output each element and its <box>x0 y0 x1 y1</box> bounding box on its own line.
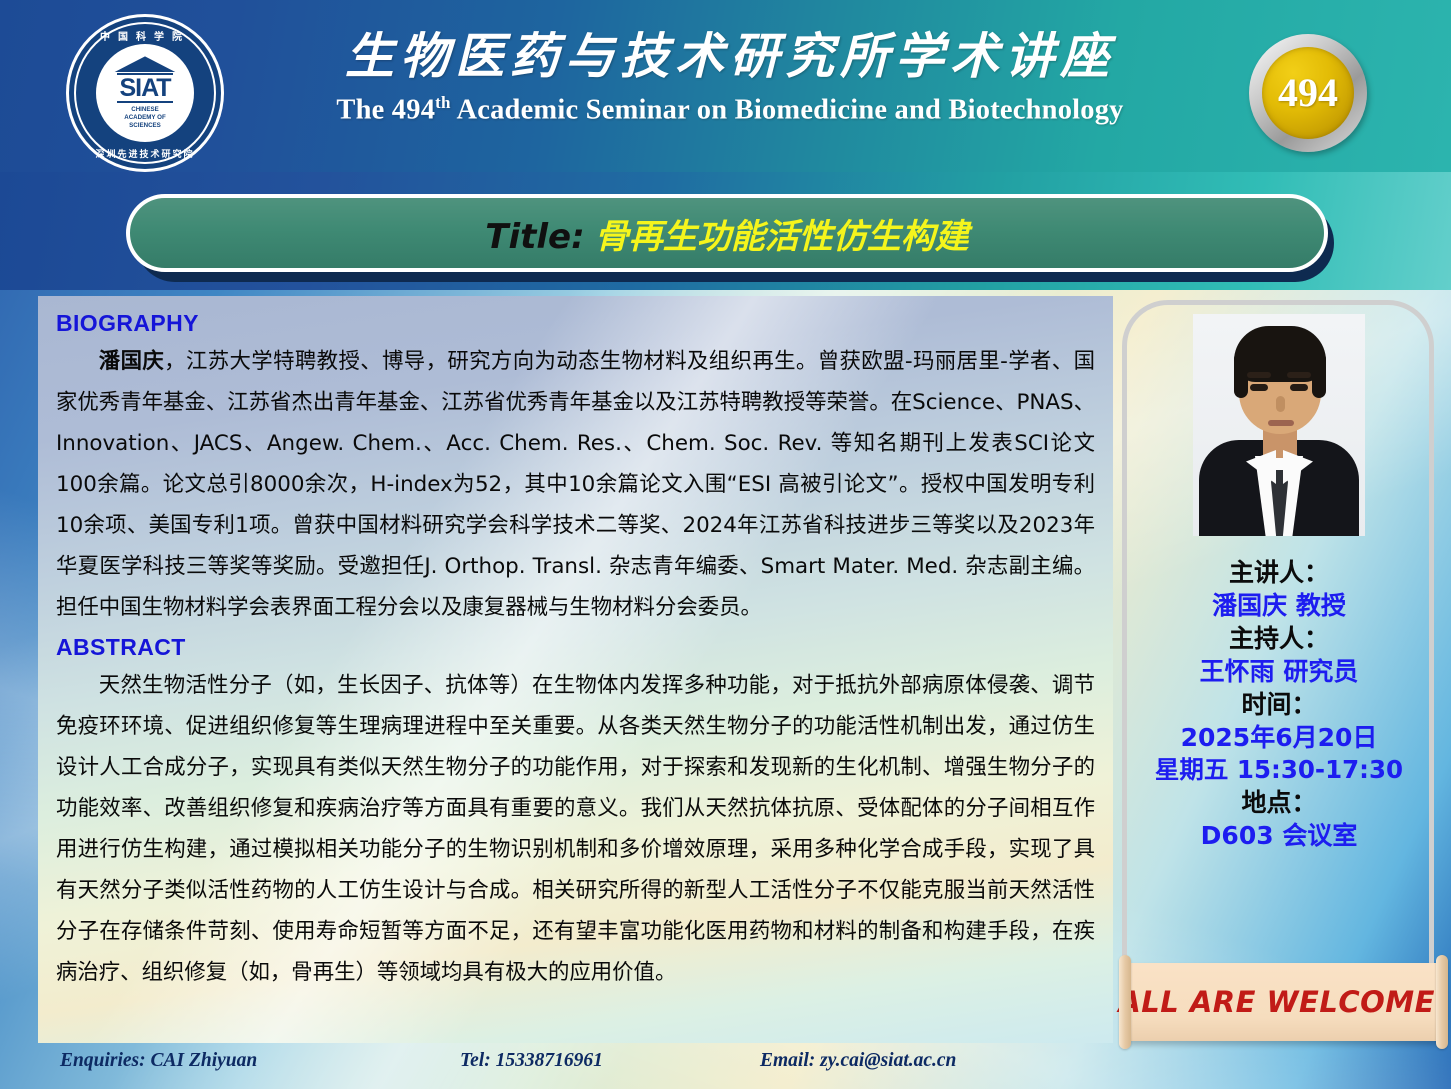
speaker-photo <box>1193 314 1365 536</box>
welcome-text: ALL ARE WELCOME! <box>1118 985 1448 1019</box>
footer-tel: Tel: 15338716961 <box>460 1050 760 1072</box>
seminar-title-en-ordinal: th <box>435 93 451 112</box>
logo-org-name: CHINESE ACADEMY OF SCIENCES <box>124 106 165 129</box>
speaker-value: 潘国庆 教授 <box>1134 589 1424 622</box>
photo-mouth <box>1268 420 1294 426</box>
welcome-scroll-rod-left <box>1119 955 1131 1049</box>
speaker-label: 主讲人： <box>1134 556 1424 589</box>
biography-heading: BIOGRAPHY <box>56 310 1095 337</box>
logo-org-line2: ACADEMY OF <box>124 114 165 122</box>
seminar-title-cn: 生物医药与技术研究所学术讲座 <box>240 26 1220 87</box>
photo-eyebrow-right <box>1287 372 1311 378</box>
seminar-title-en-prefix: The 494 <box>336 95 435 126</box>
talk-title-value: 骨再生功能活性仿生构建 <box>595 217 969 257</box>
badge-gold-disc: 494 <box>1262 47 1354 139</box>
photo-hair-right <box>1312 352 1326 398</box>
time-label: 时间： <box>1134 688 1424 721</box>
logo-org-line3: SCIENCES <box>124 122 165 130</box>
biography-speaker-name: 潘国庆 <box>99 349 164 374</box>
logo-abbr: SIAT <box>117 73 172 103</box>
seminar-poster: 中国科学院 深圳先进技术研究院 SIAT CHINESE ACADEMY OF … <box>0 0 1451 1089</box>
talk-title-text: Title:骨再生功能活性仿生构建 <box>485 209 968 258</box>
biography-body: ，江苏大学特聘教授、博导，研究方向为动态生物材料及组织再生。曾获欧盟-玛丽居里-… <box>56 349 1095 620</box>
welcome-scroll-rod-right <box>1436 955 1448 1049</box>
logo-arc-bottom-text: 深圳先进技术研究院 <box>66 147 224 160</box>
event-info-block: 主讲人： 潘国庆 教授 主持人： 王怀雨 研究员 时间： 2025年6月20日 … <box>1134 556 1424 852</box>
photo-hair-left <box>1234 352 1248 398</box>
seminar-title-en: The 494th Academic Seminar on Biomedicin… <box>240 93 1220 127</box>
siat-logo: 中国科学院 深圳先进技术研究院 SIAT CHINESE ACADEMY OF … <box>66 14 224 172</box>
photo-eye-right <box>1290 384 1308 391</box>
host-label: 主持人： <box>1134 622 1424 655</box>
venue-value: D603 会议室 <box>1134 819 1424 852</box>
footer-enquiries: Enquiries: CAI Zhiyuan <box>60 1050 460 1072</box>
header-title-group: 生物医药与技术研究所学术讲座 The 494th Academic Semina… <box>240 26 1220 127</box>
logo-org-line1: CHINESE <box>124 106 165 114</box>
time-value-weekday-hours: 星期五 15:30-17:30 <box>1134 754 1424 786</box>
logo-pediment-icon <box>114 56 176 72</box>
footer-email: Email: zy.cai@siat.ac.cn <box>760 1050 1115 1072</box>
content-panel: BIOGRAPHY 潘国庆，江苏大学特聘教授、博导，研究方向为动态生物材料及组织… <box>38 296 1113 1043</box>
abstract-heading: ABSTRACT <box>56 634 1095 661</box>
biography-text: 潘国庆，江苏大学特聘教授、博导，研究方向为动态生物材料及组织再生。曾获欧盟-玛丽… <box>56 341 1095 628</box>
logo-arc-top-text: 中国科学院 <box>66 28 224 43</box>
photo-eyebrow-left <box>1247 372 1271 378</box>
time-value-date: 2025年6月20日 <box>1134 721 1424 754</box>
badge-number-text: 494 <box>1278 73 1338 113</box>
photo-eye-left <box>1250 384 1268 391</box>
seminar-number-badge: 494 <box>1249 34 1367 152</box>
welcome-banner: ALL ARE WELCOME! <box>1125 963 1442 1041</box>
venue-label: 地点： <box>1134 786 1424 819</box>
seminar-title-en-suffix: Academic Seminar on Biomedicine and Biot… <box>451 95 1124 126</box>
talk-title-label: Title: <box>485 217 584 257</box>
host-value: 王怀雨 研究员 <box>1134 655 1424 688</box>
talk-title-bar: Title:骨再生功能活性仿生构建 <box>126 194 1328 272</box>
footer-contact: Enquiries: CAI Zhiyuan Tel: 15338716961 … <box>60 1050 1115 1072</box>
abstract-text: 天然生物活性分子（如，生长因子、抗体等）在生物体内发挥多种功能，对于抵抗外部病原… <box>56 665 1095 993</box>
logo-emblem: SIAT CHINESE ACADEMY OF SCIENCES <box>96 44 194 142</box>
photo-nose <box>1276 396 1285 412</box>
